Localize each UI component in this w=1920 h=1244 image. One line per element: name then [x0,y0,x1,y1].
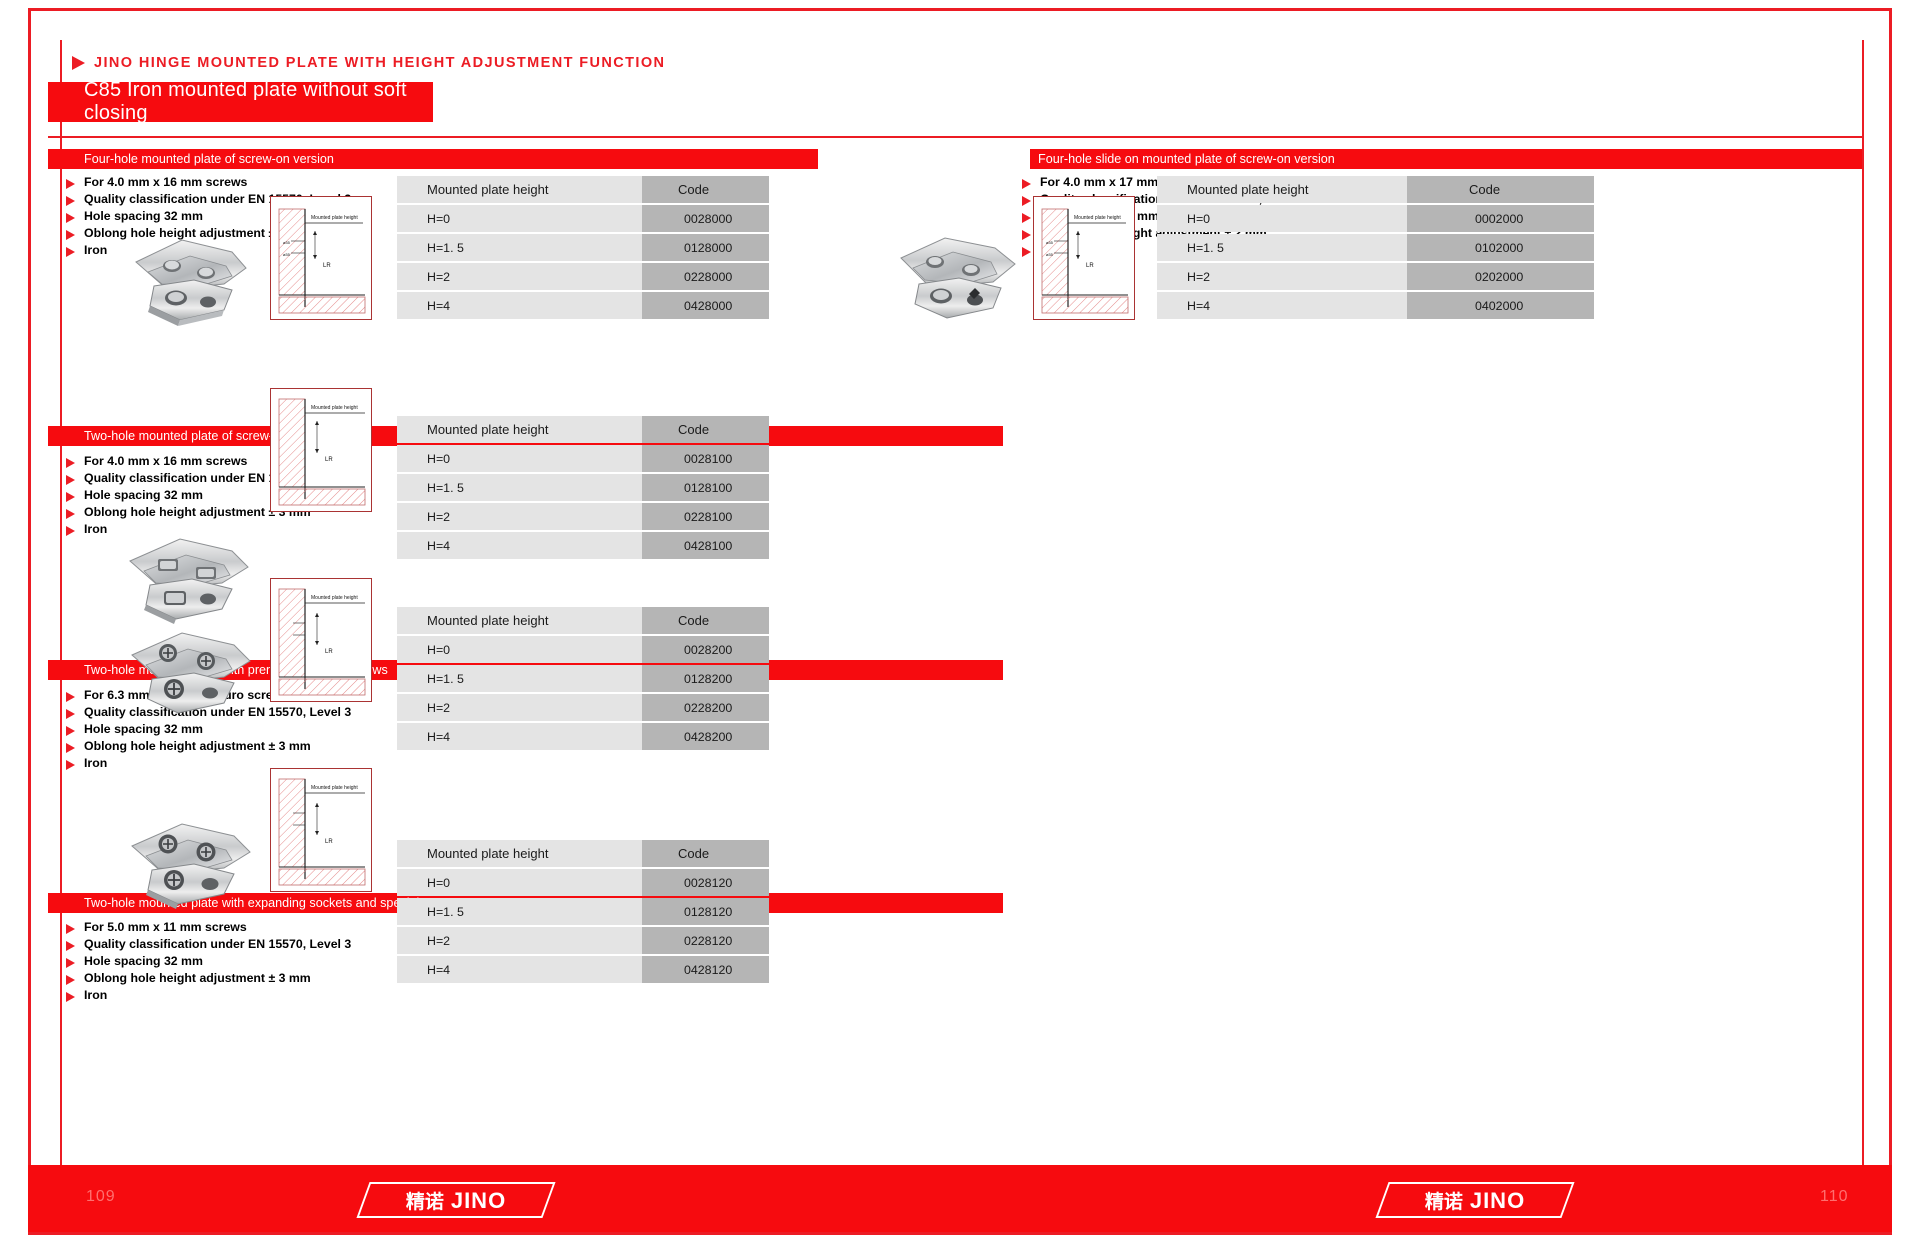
bullet-triangle-icon [66,179,75,189]
bullet-triangle-icon [66,692,75,702]
table-row: H=1. 50102000 [1157,234,1594,261]
bullet-triangle-icon [1022,179,1031,189]
svg-text:LR: LR [323,263,331,269]
page-border-right [1889,8,1892,1235]
bullet-triangle-icon [66,458,75,468]
svg-text:Mounted plate height: Mounted plate height [311,785,358,791]
bullet-triangle-icon [66,509,75,519]
cell-height: H=4 [397,956,642,983]
list-item: For 5.0 mm x 11 mm screws [66,920,351,937]
table-row: H=1. 50128120 [397,898,769,925]
list-item: Oblong hole height adjustment ± 3 mm [66,739,351,756]
table-header-row: Mounted plate height Code [397,607,769,634]
table-row: H=20228120 [397,927,769,954]
table-row: H=1. 50128100 [397,474,769,501]
list-item: Iron [66,988,351,1005]
table-header-row: Mounted plate height Code [1157,176,1594,203]
bullet-triangle-icon [66,213,75,223]
svg-text:Mounted plate height: Mounted plate height [311,215,358,221]
header-divider [48,136,1864,138]
triangle-icon [72,56,85,70]
table-four-hole-screw-on: Mounted plate height Code H=00028000 H=1… [397,174,769,321]
cell-height: H=4 [397,723,642,750]
bullet-triangle-icon [66,992,75,1002]
bullet-triangle-icon [66,196,75,206]
brand-logo-right: 精诺 JINO [1382,1182,1568,1218]
cell-code: 0428120 [642,956,769,983]
cell-height: H=1. 5 [1157,234,1407,261]
cell-code: 0128100 [642,474,769,501]
column-header-code: Code [1407,176,1594,203]
cell-height: H=4 [397,532,642,559]
svg-text:LR: LR [325,649,333,655]
table-row: H=20202000 [1157,263,1594,290]
section-header-four-hole-slide-on: Four-hole slide on mounted plate of scre… [1030,149,1862,169]
column-header-code: Code [642,607,769,634]
page-number-left: 109 [86,1188,116,1206]
column-header-height: Mounted plate height [1157,176,1407,203]
bullet-list-two-hole-expanding-sockets: For 5.0 mm x 11 mm screws Quality classi… [66,920,351,1005]
column-header-code: Code [642,840,769,867]
cell-code: 0428000 [642,292,769,319]
column-rule-left [60,40,62,1165]
table-header-row: Mounted plate height Code [397,416,769,443]
product-photo-four-hole-screw-on [128,228,258,328]
product-photo-two-hole-screw-on [122,525,262,625]
bullet-triangle-icon [66,924,75,934]
table-row: H=1. 50128200 [397,665,769,692]
page-border-bottom [28,1232,1892,1235]
column-rule-right [1862,40,1864,1165]
svg-text:LR: LR [1086,263,1094,269]
svg-text:Mounted plate height: Mounted plate height [311,595,358,601]
table-row: H=40428100 [397,532,769,559]
list-item: For 4.0 mm x 16 mm screws [66,175,351,192]
cell-code: 0228200 [642,694,769,721]
page-border-left [28,8,31,1235]
bullet-triangle-icon [1022,196,1031,206]
table-row: H=40428000 [397,292,769,319]
cell-code: 0228120 [642,927,769,954]
cell-height: H=4 [397,292,642,319]
product-photo-two-hole-euro-screws [122,615,264,720]
cell-height: H=1. 5 [397,898,642,925]
bullet-triangle-icon [66,526,75,536]
svg-text:⌀35: ⌀35 [283,240,291,245]
cell-code: 0102000 [1407,234,1594,261]
cell-height: H=2 [397,927,642,954]
list-item: Oblong hole height adjustment ± 3 mm [66,971,351,988]
cell-height: H=1. 5 [397,234,642,261]
table-row: H=20228100 [397,503,769,530]
product-photo-two-hole-expanding-sockets [122,806,264,911]
logo-latin-text: JINO [451,1187,506,1213]
technical-drawing-four-hole-slide-on: Mounted plate height ⌀35 ⌀35 LR [1033,196,1135,320]
table-header-row: Mounted plate height Code [397,840,769,867]
bullet-triangle-icon [66,709,75,719]
table-header-row: Mounted plate height Code [397,176,769,203]
cell-height: H=0 [397,205,642,232]
logo-latin-text: JINO [1470,1187,1525,1213]
technical-drawing-four-hole-screw-on: Mounted plate height ⌀35 ⌀35 LR [270,196,372,320]
bullet-triangle-icon [66,760,75,770]
technical-drawing-two-hole-screw-on: Mounted plate height LR [270,388,372,512]
svg-text:⌀35: ⌀35 [1046,240,1054,245]
cell-code: 0028000 [642,205,769,232]
table-row: H=1. 50128000 [397,234,769,261]
cell-height: H=0 [397,445,642,472]
cell-code: 0128000 [642,234,769,261]
brand-logo-left: 精诺 JINO [363,1182,549,1218]
product-banner: C85 Iron mounted plate without soft clos… [48,82,433,122]
bullet-triangle-icon [66,743,75,753]
svg-text:LR: LR [325,839,333,845]
cell-height: H=4 [1157,292,1407,319]
bullet-triangle-icon [66,475,75,485]
svg-text:LR: LR [325,457,333,463]
list-item: Hole spacing 32 mm [66,722,351,739]
cell-code: 0028120 [642,869,769,896]
cell-height: H=1. 5 [397,665,642,692]
bullet-triangle-icon [1022,213,1031,223]
cell-height: H=1. 5 [397,474,642,501]
table-row: H=00028000 [397,205,769,232]
bullet-triangle-icon [66,230,75,240]
cell-height: H=0 [1157,205,1407,232]
bullet-triangle-icon [66,492,75,502]
cell-height: H=0 [397,636,642,663]
bullet-triangle-icon [66,958,75,968]
column-header-height: Mounted plate height [397,840,642,867]
cell-height: H=2 [1157,263,1407,290]
table-row: H=00002000 [1157,205,1594,232]
cell-code: 0128120 [642,898,769,925]
cell-code: 0002000 [1407,205,1594,232]
logo-chinese-text: 精诺 [1425,1187,1463,1214]
table-two-hole-screw-on: Mounted plate height Code H=00028100 H=1… [397,414,769,561]
cell-code: 0128200 [642,665,769,692]
table-row: H=00028120 [397,869,769,896]
svg-text:⌀35: ⌀35 [283,252,291,257]
table-row: H=40402000 [1157,292,1594,319]
cell-height: H=2 [397,694,642,721]
product-banner-text: C85 Iron mounted plate without soft clos… [84,79,433,125]
page-title-text: JINO HINGE MOUNTED PLATE WITH HEIGHT ADJ… [94,55,665,71]
page-title: JINO HINGE MOUNTED PLATE WITH HEIGHT ADJ… [72,55,665,71]
cell-code: 0028100 [642,445,769,472]
list-item: Hole spacing 32 mm [66,954,351,971]
catalog-page: JINO HINGE MOUNTED PLATE WITH HEIGHT ADJ… [0,0,1920,1244]
table-row: H=40428200 [397,723,769,750]
table-row: H=20228000 [397,263,769,290]
bullet-triangle-icon [66,941,75,951]
table-two-hole-expanding-sockets: Mounted plate height Code H=00028120 H=1… [397,838,769,985]
table-two-hole-euro-screws: Mounted plate height Code H=00028200 H=1… [397,605,769,752]
list-item: Quality classification under EN 15570, L… [66,937,351,954]
column-header-height: Mounted plate height [397,416,642,443]
section-title: Four-hole mounted plate of screw-on vers… [84,152,334,166]
section-title: Four-hole slide on mounted plate of scre… [1038,152,1335,166]
table-four-hole-slide-on: Mounted plate height Code H=00002000 H=1… [1157,174,1594,321]
cell-code: 0228000 [642,263,769,290]
cell-code: 0202000 [1407,263,1594,290]
footer-bar [28,1165,1892,1232]
cell-code: 0228100 [642,503,769,530]
table-row: H=00028200 [397,636,769,663]
bullet-triangle-icon [66,975,75,985]
page-number-right: 110 [1820,1188,1849,1206]
table-row: H=40428120 [397,956,769,983]
cell-code: 0402000 [1407,292,1594,319]
cell-code: 0428200 [642,723,769,750]
logo-chinese-text: 精诺 [406,1187,444,1214]
cell-code: 0028200 [642,636,769,663]
bullet-triangle-icon [66,247,75,257]
cell-height: H=0 [397,869,642,896]
column-header-height: Mounted plate height [397,176,642,203]
table-row: H=20228200 [397,694,769,721]
svg-text:Mounted plate height: Mounted plate height [1074,215,1121,221]
technical-drawing-two-hole-expanding-sockets: Mounted plate height LR [270,768,372,892]
column-header-height: Mounted plate height [397,607,642,634]
cell-height: H=2 [397,263,642,290]
table-row: H=00028100 [397,445,769,472]
product-photo-four-hole-slide-on [895,228,1030,324]
svg-text:Mounted plate height: Mounted plate height [311,405,358,411]
cell-height: H=2 [397,503,642,530]
cell-code: 0428100 [642,532,769,559]
bullet-triangle-icon [66,726,75,736]
column-header-code: Code [642,176,769,203]
section-header-four-hole-screw-on: Four-hole mounted plate of screw-on vers… [48,149,818,169]
svg-text:⌀35: ⌀35 [1046,252,1054,257]
page-border-top [28,8,1892,11]
column-header-code: Code [642,416,769,443]
technical-drawing-two-hole-euro-screws: Mounted plate height LR [270,578,372,702]
